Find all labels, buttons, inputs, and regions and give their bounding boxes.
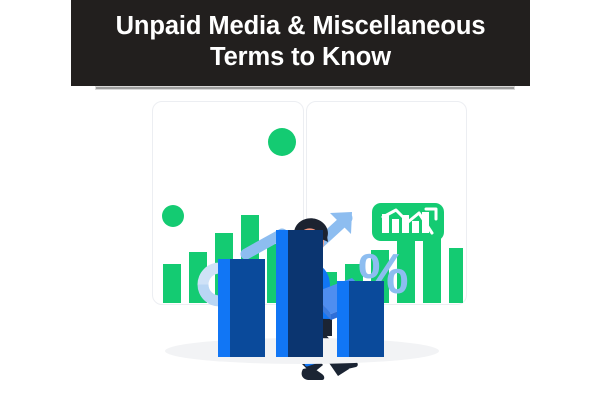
blue-bar-3 (337, 281, 384, 357)
blue-bar-2 (276, 230, 323, 357)
blue-bar-3-edge (337, 281, 349, 357)
blue-bar-1 (218, 259, 265, 357)
blue-bar-1-edge (218, 259, 230, 357)
blue-bar-1-body (230, 259, 265, 357)
chart-badge-icon (372, 203, 444, 241)
blue-bar-2-body (288, 230, 323, 357)
title-banner: Unpaid Media & Miscellaneous Terms to Kn… (71, 0, 530, 86)
hero-illustration: % (0, 86, 601, 401)
blue-bar-2-edge (276, 230, 288, 357)
page-title: Unpaid Media & Miscellaneous Terms to Kn… (116, 11, 486, 73)
screenshot-root: Unpaid Media & Miscellaneous Terms to Kn… (0, 0, 601, 401)
blue-bar-3-body (349, 281, 384, 357)
